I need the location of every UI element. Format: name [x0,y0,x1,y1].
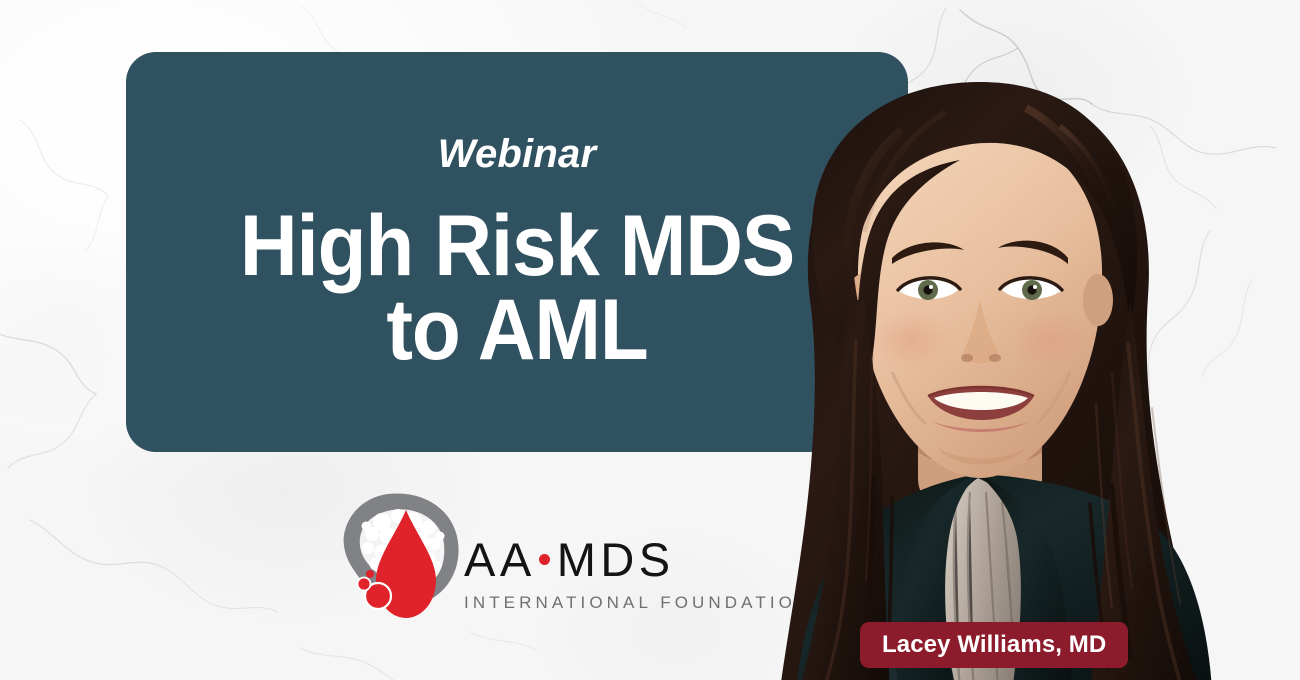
blood-drop-cells-icon [336,486,476,626]
speaker-name: Lacey Williams, MD [882,633,1106,657]
logo-wordmark-mds: MDS [557,536,675,583]
status-badge: Lacey Williams, MD [860,622,1128,668]
speaker-portrait [660,0,1300,680]
logo-wordmark-aa: AA [464,536,536,583]
aamds-logo: AA MDS INTERNATIONAL FOUNDATION [336,486,711,628]
eyebrow-label: Webinar [438,134,596,174]
webinar-promo-graphic: Webinar High Risk MDS to AML [0,0,1300,680]
logo-red-dot-icon [539,554,550,565]
